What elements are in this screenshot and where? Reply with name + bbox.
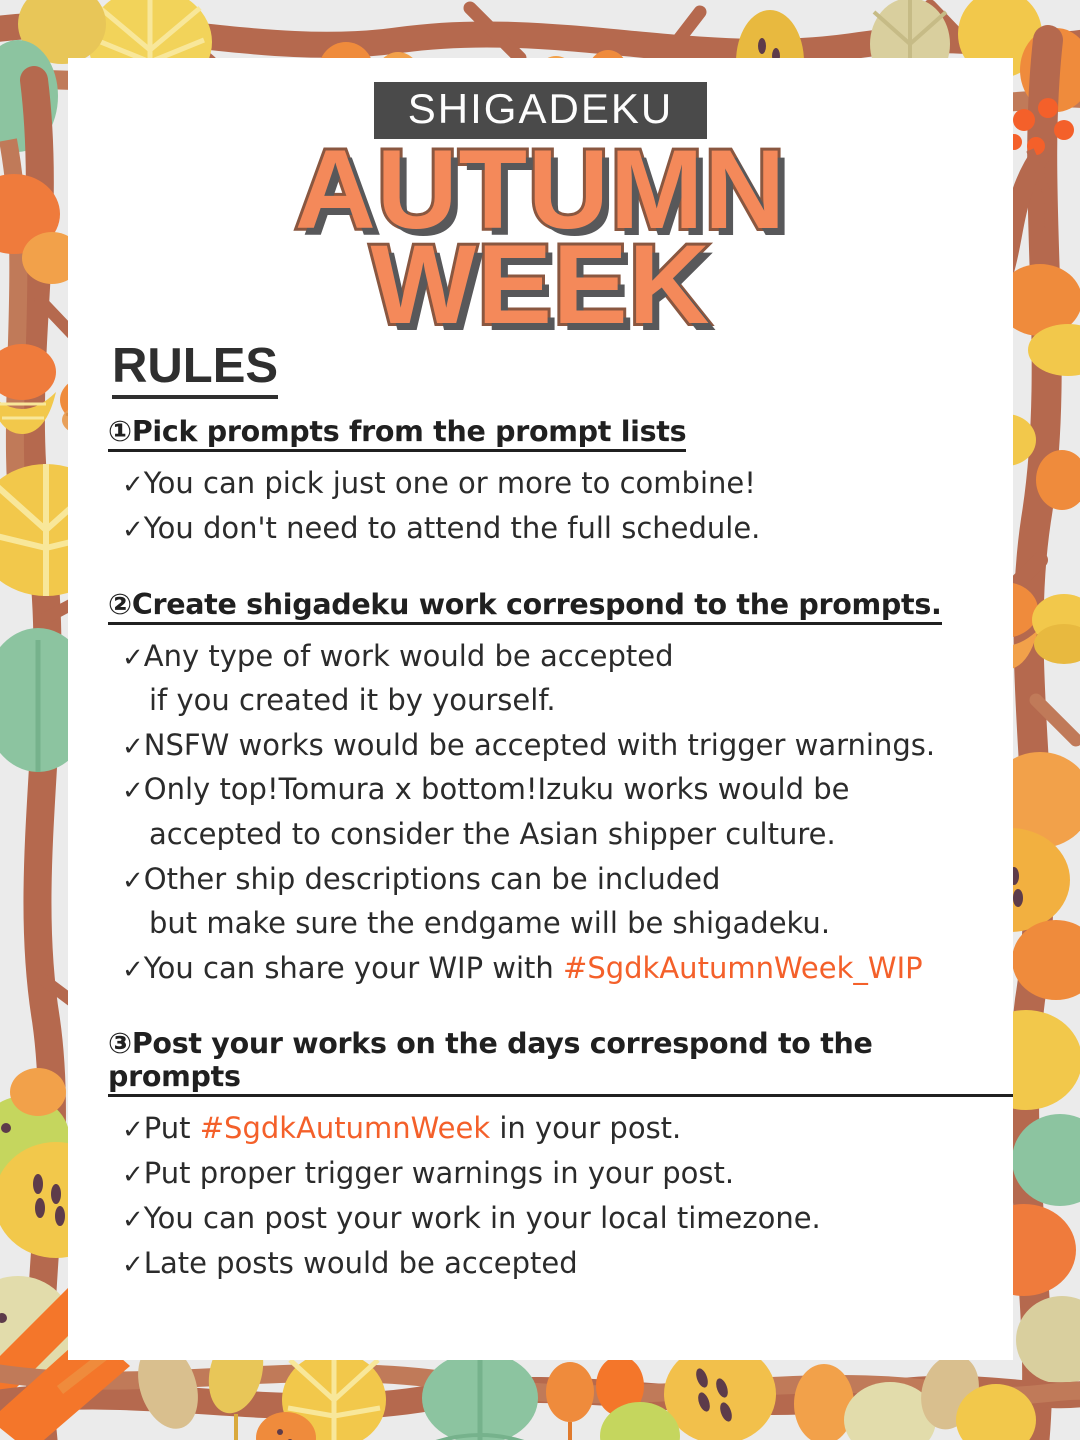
- bullet-text: accepted to consider the Asian shipper c…: [149, 817, 836, 851]
- check-icon: ✓: [122, 1250, 144, 1280]
- check-icon: ✓: [122, 776, 144, 806]
- bullet-text: but make sure the endgame will be shigad…: [149, 906, 830, 940]
- rule-bullet: ✓Other ship descriptions can be included: [112, 857, 1013, 902]
- event-title: AUTUMN WEEK: [68, 141, 1013, 334]
- rule-bullet: ✓You can pick just one or more to combin…: [112, 461, 1013, 506]
- rule-bullet-list: ✓You can pick just one or more to combin…: [112, 461, 1013, 551]
- bullet-text: You can share your WIP with: [144, 951, 563, 985]
- check-icon: ✓: [122, 470, 144, 500]
- bullet-text: Late posts would be accepted: [144, 1246, 578, 1280]
- rules-list: ①Pick prompts from the prompt lists✓You …: [112, 415, 1013, 1286]
- rule-bullet: ✓NSFW works would be accepted with trigg…: [112, 723, 1013, 768]
- check-icon: ✓: [122, 955, 144, 985]
- title-line-2: WEEK: [68, 236, 1013, 335]
- check-icon: ✓: [122, 1205, 144, 1235]
- check-icon: ✓: [122, 1115, 144, 1145]
- rule-title: ①Pick prompts from the prompt lists: [108, 415, 686, 452]
- rule-bullet-list: ✓Put #SgdkAutumnWeek in your post.✓Put p…: [112, 1106, 1013, 1285]
- section-spacer: [112, 1000, 1013, 1027]
- rule-bullet: ✓You can post your work in your local ti…: [112, 1196, 1013, 1241]
- bullet-text: if you created it by yourself.: [149, 683, 556, 717]
- bullet-text: You don't need to attend the full schedu…: [144, 511, 761, 545]
- rule-bullet-list: ✓Any type of work would be acceptedif yo…: [112, 634, 1013, 991]
- rule-block: ②Create shigadeku work correspond to the…: [112, 588, 1013, 991]
- rule-bullet: accepted to consider the Asian shipper c…: [112, 812, 1013, 856]
- rule-block: ③Post your works on the days correspond …: [112, 1027, 1013, 1285]
- rule-bullet: ✓Put #SgdkAutumnWeek in your post.: [112, 1106, 1013, 1151]
- rule-bullet: ✓Late posts would be accepted: [112, 1241, 1013, 1286]
- rule-title: ②Create shigadeku work correspond to the…: [108, 588, 942, 625]
- check-icon: ✓: [122, 643, 144, 673]
- rule-block: ①Pick prompts from the prompt lists✓You …: [112, 415, 1013, 551]
- check-icon: ✓: [122, 1160, 144, 1190]
- hashtag[interactable]: #SgdkAutumnWeek_WIP: [563, 951, 923, 985]
- rules-section: RULES ①Pick prompts from the prompt list…: [68, 334, 1013, 1285]
- bullet-text: You can pick just one or more to combine…: [144, 466, 756, 500]
- bullet-text: Put proper trigger warnings in your post…: [144, 1156, 734, 1190]
- bullet-text: Any type of work would be accepted: [144, 639, 674, 673]
- rule-bullet: ✓Any type of work would be accepted: [112, 634, 1013, 679]
- rule-bullet: but make sure the endgame will be shigad…: [112, 901, 1013, 945]
- bullet-text: Other ship descriptions can be included: [144, 862, 721, 896]
- bullet-text: NSFW works would be accepted with trigge…: [144, 728, 935, 762]
- bullet-text: Put: [144, 1111, 200, 1145]
- hashtag[interactable]: #SgdkAutumnWeek: [200, 1111, 490, 1145]
- check-icon: ✓: [122, 866, 144, 896]
- section-spacer: [112, 561, 1013, 588]
- rule-title: ③Post your works on the days correspond …: [108, 1027, 1013, 1097]
- rule-bullet: ✓Put proper trigger warnings in your pos…: [112, 1151, 1013, 1196]
- rule-bullet: ✓You don't need to attend the full sched…: [112, 506, 1013, 551]
- poster-card: SHIGADEKU AUTUMN WEEK RULES ①Pick prompt…: [68, 58, 1013, 1360]
- title-block: SHIGADEKU AUTUMN WEEK: [68, 58, 1013, 334]
- rule-bullet: ✓You can share your WIP with #SgdkAutumn…: [112, 946, 1013, 991]
- check-icon: ✓: [122, 515, 144, 545]
- rule-bullet: if you created it by yourself.: [112, 678, 1013, 722]
- rule-bullet: ✓Only top!Tomura x bottom!Izuku works wo…: [112, 767, 1013, 812]
- check-icon: ✓: [122, 732, 144, 762]
- acorn-right-2: [1032, 594, 1080, 664]
- rules-heading: RULES: [112, 340, 278, 399]
- bullet-text-tail: in your post.: [490, 1111, 681, 1145]
- bullet-text: Only top!Tomura x bottom!Izuku works wou…: [144, 772, 850, 806]
- bullet-text: You can post your work in your local tim…: [144, 1201, 821, 1235]
